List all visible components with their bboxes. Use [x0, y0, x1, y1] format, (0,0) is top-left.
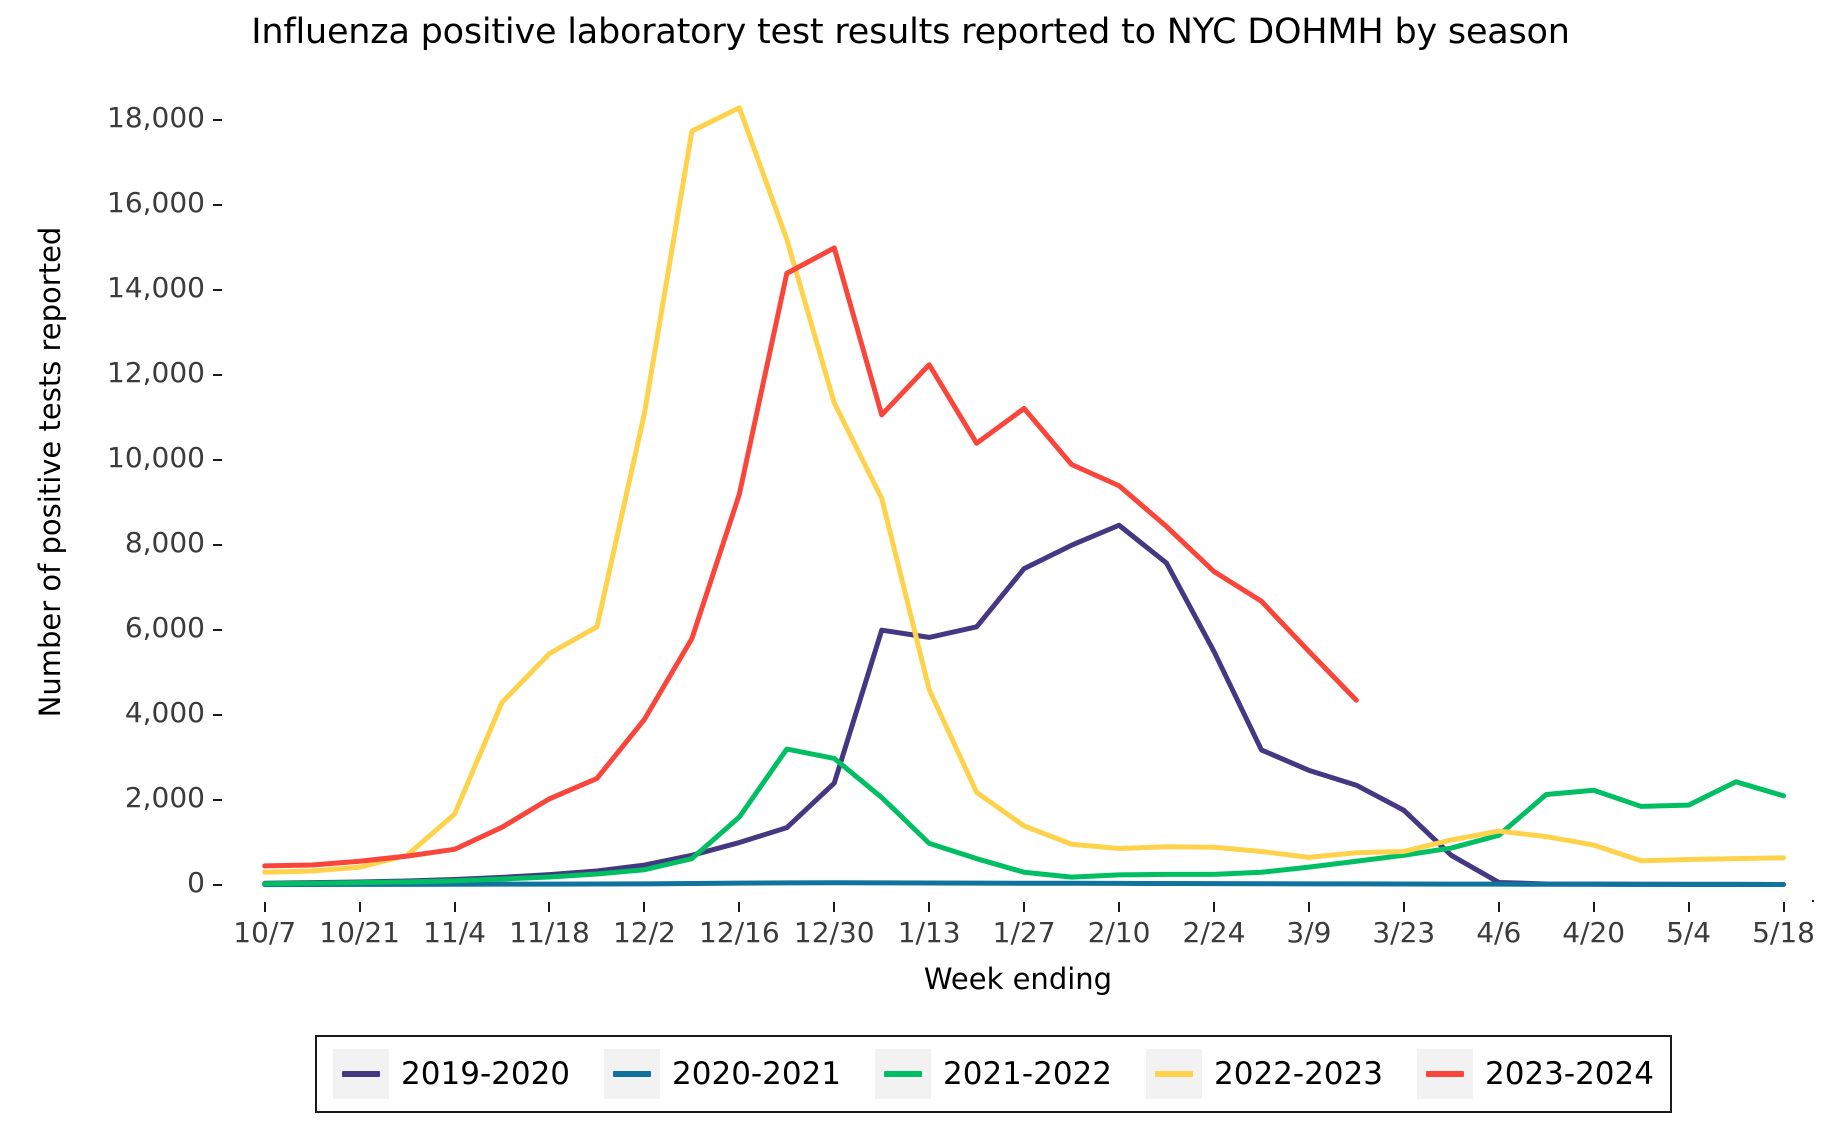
x-tick-mark: [1498, 902, 1500, 912]
x-tick-label: 3/23: [1372, 916, 1435, 949]
x-tick-mark: [359, 902, 361, 912]
x-tick-label: 12/2: [613, 916, 676, 949]
y-tick-label: 0: [40, 866, 205, 899]
x-tick-mark: [1213, 902, 1215, 912]
legend-entry-2023-2024[interactable]: 2023-2024: [1417, 1049, 1654, 1099]
x-tick-label: 1/13: [898, 916, 961, 949]
x-tick-mark: [928, 902, 930, 912]
x-tick-mark: [264, 902, 266, 912]
x-tick-label: 11/4: [423, 916, 486, 949]
legend-swatch-icon: [604, 1049, 660, 1099]
x-tick-mark: [833, 902, 835, 912]
x-tick-mark: [1593, 902, 1595, 912]
y-tick-mark: [213, 714, 222, 716]
x-tick-label: 2/24: [1183, 916, 1246, 949]
series-line-2022-2023: [265, 108, 1784, 873]
legend-swatch-icon: [875, 1049, 931, 1099]
series-lines: [222, 78, 1812, 902]
x-tick-mark: [738, 902, 740, 912]
legend-label: 2023-2024: [1485, 1056, 1654, 1092]
y-tick-mark: [213, 119, 222, 121]
legend-label: 2022-2023: [1214, 1056, 1383, 1092]
series-line-2020-2021: [265, 883, 1784, 885]
page-title: Influenza positive laboratory test resul…: [0, 12, 1821, 52]
x-tick-mark: [1688, 902, 1690, 912]
x-tick-label: 12/30: [794, 916, 875, 949]
legend-swatch-icon: [1417, 1049, 1473, 1099]
legend-label: 2021-2022: [943, 1056, 1112, 1092]
y-axis-label: Number of positive tests reported: [33, 92, 67, 852]
y-tick-mark: [213, 289, 222, 291]
x-tick-label: 5/4: [1666, 916, 1711, 949]
x-tick-mark: [1403, 902, 1405, 912]
x-tick-mark: [1118, 902, 1120, 912]
legend-swatch-icon: [1146, 1049, 1202, 1099]
x-tick-mark: [548, 902, 550, 912]
x-tick-mark: [1783, 902, 1785, 912]
x-tick-label: 1/27: [993, 916, 1056, 949]
x-tick-label: 11/18: [509, 916, 590, 949]
series-line-2023-2024: [265, 248, 1357, 866]
legend-label: 2019-2020: [401, 1056, 570, 1092]
legend-label: 2020-2021: [672, 1056, 841, 1092]
x-tick-label: 10/7: [233, 916, 296, 949]
x-tick-mark: [1308, 902, 1310, 912]
x-tick-label: 3/9: [1286, 916, 1331, 949]
series-line-2021-2022: [265, 749, 1784, 884]
legend-entry-2021-2022[interactable]: 2021-2022: [875, 1049, 1112, 1099]
chart-legend: 2019-20202020-20212021-20222022-20232023…: [315, 1035, 1672, 1113]
x-tick-label: 4/6: [1476, 916, 1521, 949]
y-tick-mark: [213, 629, 222, 631]
x-tick-mark: [1023, 902, 1025, 912]
y-tick-mark: [213, 459, 222, 461]
x-tick-label: 12/16: [699, 916, 780, 949]
x-tick-mark: [454, 902, 456, 912]
y-tick-mark: [213, 544, 222, 546]
legend-swatch-icon: [333, 1049, 389, 1099]
x-axis-label: Week ending: [222, 962, 1814, 996]
plot-area: [222, 78, 1812, 902]
x-tick-label: 2/10: [1088, 916, 1151, 949]
y-tick-mark: [213, 799, 222, 801]
x-tick-label: 10/21: [319, 916, 400, 949]
x-tick-mark: [643, 902, 645, 912]
legend-entry-2019-2020[interactable]: 2019-2020: [333, 1049, 570, 1099]
y-tick-mark: [213, 204, 222, 206]
y-tick-mark: [213, 884, 222, 886]
legend-entry-2022-2023[interactable]: 2022-2023: [1146, 1049, 1383, 1099]
legend-entry-2020-2021[interactable]: 2020-2021: [604, 1049, 841, 1099]
x-tick-label: 4/20: [1562, 916, 1625, 949]
x-tick-label: 5/18: [1752, 916, 1815, 949]
chart-figure: Influenza positive laboratory test resul…: [0, 0, 1821, 1138]
y-tick-mark: [213, 374, 222, 376]
